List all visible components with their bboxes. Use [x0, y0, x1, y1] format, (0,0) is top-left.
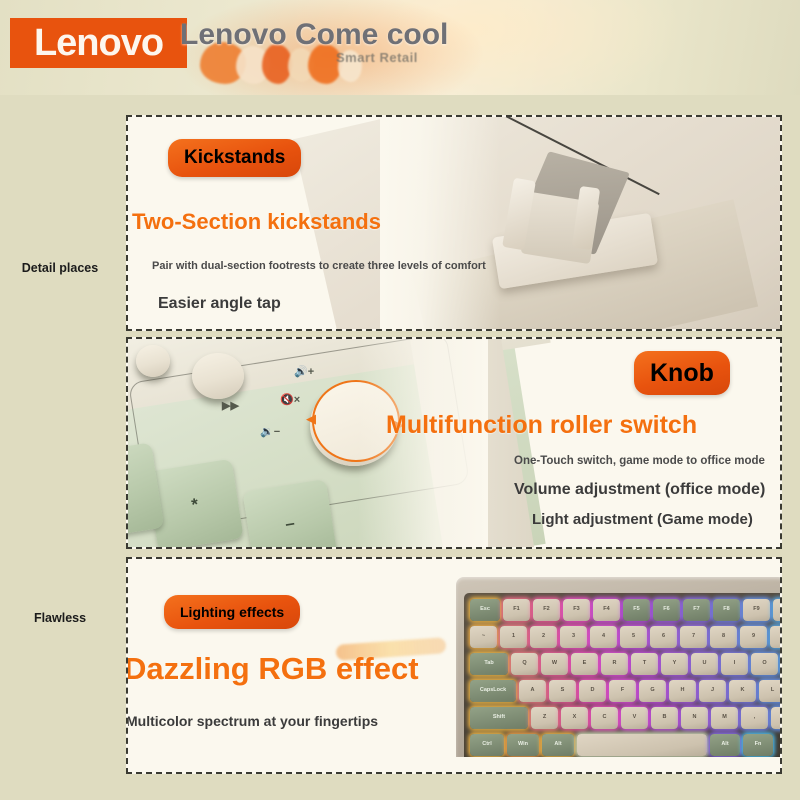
keycap-7[interactable]: 7: [680, 626, 707, 648]
rgb-keyboard-photo: EscF1F2F3F4F5F6F7F8F9F10F11~1234567890-T…: [450, 577, 780, 757]
keyboard-row: CapsLockASDFGHJKL;: [470, 680, 780, 702]
keycap-s[interactable]: S: [549, 680, 576, 702]
knob-secondary: [192, 353, 244, 399]
keycap-e[interactable]: E: [571, 653, 598, 675]
keycap-fn[interactable]: Fn: [743, 734, 773, 756]
keycap-w[interactable]: W: [541, 653, 568, 675]
keycap-r[interactable]: R: [601, 653, 628, 675]
vol-down-icon: 🔉−: [260, 427, 280, 438]
mute-icon: 🔇×: [280, 395, 300, 406]
keycap-h[interactable]: H: [669, 680, 696, 702]
keycap-t[interactable]: T: [631, 653, 658, 675]
keycap--[interactable]: .: [771, 707, 780, 729]
keycap-l[interactable]: L: [759, 680, 780, 702]
page-subtitle: Smart Retail: [336, 50, 418, 65]
keycap-ctrl[interactable]: Ctrl: [470, 734, 504, 756]
keycap-capslock[interactable]: CapsLock: [470, 680, 516, 702]
keycap-f10[interactable]: F10: [773, 599, 780, 621]
keycap-q[interactable]: Q: [511, 653, 538, 675]
page-header: Lenovo Lenovo Come cool Smart Retail: [0, 0, 800, 95]
keyboard-row: ShiftZXCVBNM,./: [470, 707, 780, 729]
badge-lighting-effects: Lighting effects: [164, 595, 300, 629]
keycap-v[interactable]: V: [621, 707, 648, 729]
keycap-win[interactable]: Win: [507, 734, 539, 756]
rotate-ccw-arrow-icon: ◀: [306, 412, 316, 425]
keycap-j[interactable]: J: [699, 680, 726, 702]
keycap-label: –: [284, 513, 296, 534]
keycap-f4[interactable]: F4: [593, 599, 620, 621]
keycap-a[interactable]: A: [519, 680, 546, 702]
kickstand-photo: [380, 117, 780, 329]
keycap-f1[interactable]: F1: [503, 599, 530, 621]
keycap-5[interactable]: 5: [620, 626, 647, 648]
caption-knob: One-Touch switch, game mode to office mo…: [514, 455, 765, 467]
keycap-f[interactable]: F: [609, 680, 636, 702]
keycap-f2[interactable]: F2: [533, 599, 560, 621]
knob-line-3: Light adjustment (Game mode): [532, 511, 753, 528]
keycap-m[interactable]: M: [711, 707, 738, 729]
vol-up-icon: 🔊+: [294, 367, 314, 378]
heading-knob: Multifunction roller switch: [386, 411, 697, 440]
keycap-x[interactable]: X: [561, 707, 588, 729]
keycap-f3[interactable]: F3: [563, 599, 590, 621]
keycap-k[interactable]: K: [729, 680, 756, 702]
keycap-u[interactable]: U: [691, 653, 718, 675]
keycap-f9[interactable]: F9: [743, 599, 770, 621]
panel-knob: ◀ ▶ ▶▶ 🔊+ 🔇× 🔉− * – Knob Multifunction r…: [126, 337, 782, 549]
keycap-3[interactable]: 3: [560, 626, 587, 648]
badge-knob: Knob: [634, 351, 730, 395]
next-track-icon: ▶▶: [222, 401, 239, 412]
keycap-n[interactable]: N: [681, 707, 708, 729]
knob-tertiary: [136, 345, 170, 377]
keycap--[interactable]: ~: [470, 626, 497, 648]
keycap--[interactable]: ,: [741, 707, 768, 729]
keycap-9[interactable]: 9: [740, 626, 767, 648]
keycap-label: *: [190, 495, 200, 516]
keycap-f6[interactable]: F6: [653, 599, 680, 621]
keycap-f8[interactable]: F8: [713, 599, 740, 621]
keyboard-row: ~1234567890-: [470, 626, 780, 648]
keycap-alt[interactable]: Alt: [542, 734, 574, 756]
lenovo-logo: Lenovo: [10, 18, 187, 68]
knob-photo: ◀ ▶ ▶▶ 🔊+ 🔇× 🔉− * –: [128, 339, 488, 547]
keycap-tab[interactable]: Tab: [470, 653, 508, 675]
keycap-d[interactable]: D: [579, 680, 606, 702]
margin-label-detail-places: Detail places: [0, 261, 120, 275]
caption-lighting: Multicolor spectrum at your fingertips: [126, 713, 378, 729]
keycap-1[interactable]: 1: [500, 626, 527, 648]
keycap-f7[interactable]: F7: [683, 599, 710, 621]
keycap-alt[interactable]: Alt: [710, 734, 740, 756]
keycap-y[interactable]: Y: [661, 653, 688, 675]
margin-label-flawless: Flawless: [0, 611, 120, 625]
heading-lighting: Dazzling RGB effect: [126, 651, 419, 687]
keycap-6[interactable]: 6: [650, 626, 677, 648]
keycap-asterisk: *: [146, 459, 243, 549]
heading-kickstands: Two-Section kickstands: [132, 209, 381, 235]
caption-kickstands: Pair with dual-section footrests to crea…: [152, 260, 486, 272]
keycap-minus: –: [242, 479, 337, 549]
keycap-z[interactable]: Z: [531, 707, 558, 729]
keycap-f5[interactable]: F5: [623, 599, 650, 621]
panel-kickstands: Kickstands Two-Section kickstands Pair w…: [126, 115, 782, 331]
keycap-2[interactable]: 2: [530, 626, 557, 648]
badge-kickstands: Kickstands: [168, 139, 301, 177]
keycap-esc[interactable]: Esc: [470, 599, 500, 621]
keycap-8[interactable]: 8: [710, 626, 737, 648]
keyboard-row: CtrlWinAltAltFn: [470, 734, 773, 756]
keycap-4[interactable]: 4: [590, 626, 617, 648]
keycap-0[interactable]: 0: [770, 626, 780, 648]
page-title: Lenovo Come cool: [180, 18, 448, 52]
keycap-space[interactable]: [577, 734, 707, 756]
keycap-o[interactable]: O: [751, 653, 778, 675]
keycap-c[interactable]: C: [591, 707, 618, 729]
keyboard-row: TabQWERTYUIOP[: [470, 653, 780, 675]
keycap-shift[interactable]: Shift: [470, 707, 528, 729]
knob-line-2: Volume adjustment (office mode): [514, 481, 765, 499]
keyboard-row: EscF1F2F3F4F5F6F7F8F9F10F11: [470, 599, 780, 621]
panel-lighting: EscF1F2F3F4F5F6F7F8F9F10F11~1234567890-T…: [126, 557, 782, 774]
keycap-g[interactable]: G: [639, 680, 666, 702]
keycap-b[interactable]: B: [651, 707, 678, 729]
lenovo-logo-text: Lenovo: [34, 24, 163, 62]
subheading-kickstands: Easier angle tap: [158, 295, 281, 313]
keycap-i[interactable]: I: [721, 653, 748, 675]
